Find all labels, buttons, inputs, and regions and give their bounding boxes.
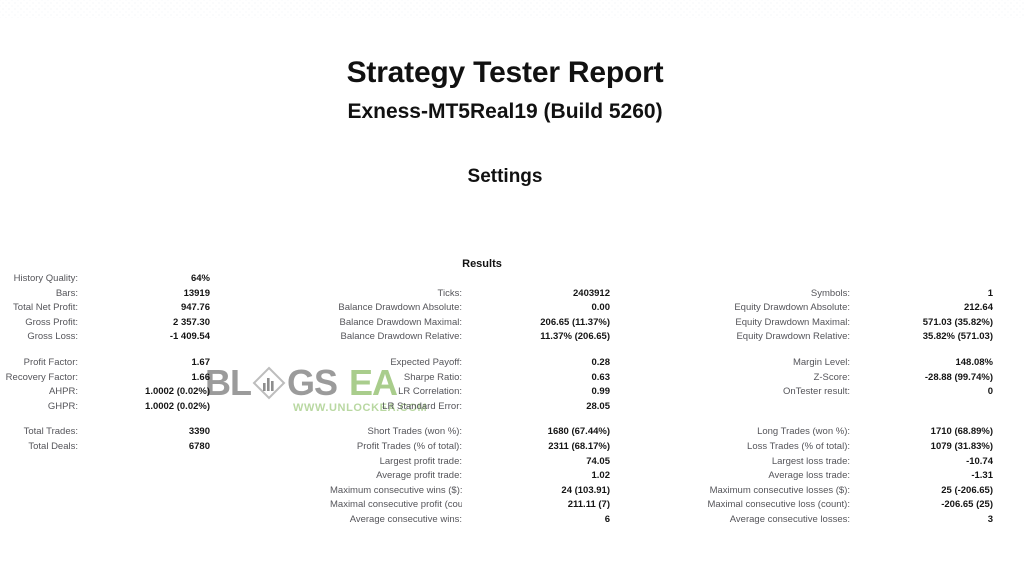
- stat-row: GHPR:1.0002 (0.02%)LR Standard Error:28.…: [0, 400, 1024, 415]
- stat-label: Profit Trades (% of total):: [330, 440, 462, 455]
- stat-value: 6780: [78, 440, 210, 455]
- stat-label: OnTester result:: [660, 385, 850, 400]
- stat-column-3: Largest loss trade:-10.74: [660, 455, 1024, 470]
- stat-label: Profit Factor:: [0, 356, 78, 371]
- stat-column-2: Largest profit trade:74.05: [330, 455, 660, 470]
- stat-row: Average consecutive wins:6Average consec…: [0, 513, 1024, 528]
- stat-label: Sharpe Ratio:: [330, 371, 462, 386]
- stat-value: 947.76: [78, 301, 210, 316]
- stat-column-1: Gross Loss:-1 409.54: [0, 330, 330, 345]
- stat-row: Largest profit trade:74.05Largest loss t…: [0, 455, 1024, 470]
- settings-section-heading: Settings: [0, 166, 1010, 188]
- stat-value: 25 (-206.65): [850, 484, 993, 499]
- stat-value: 0.28: [462, 356, 610, 371]
- stat-row: Average profit trade:1.02Average loss tr…: [0, 469, 1024, 484]
- stat-value: [78, 513, 210, 528]
- stat-group: History Quality:64%Bars:13919Ticks:24039…: [0, 272, 1024, 345]
- stat-label: Maximum consecutive wins ($):: [330, 484, 462, 499]
- stat-value: 0.99: [462, 385, 610, 400]
- stat-label: Loss Trades (% of total):: [660, 440, 850, 455]
- stat-column-3: Average loss trade:-1.31: [660, 469, 1024, 484]
- stat-value: 1.67: [78, 356, 210, 371]
- stat-row: Maximal consecutive profit (count):211.1…: [0, 498, 1024, 513]
- stat-label: [330, 272, 462, 287]
- stat-column-2: Average consecutive wins:6: [330, 513, 660, 528]
- stat-row: AHPR:1.0002 (0.02%)LR Correlation:0.99On…: [0, 385, 1024, 400]
- stat-label: History Quality:: [0, 272, 78, 287]
- stat-label: AHPR:: [0, 385, 78, 400]
- stat-label: Ticks:: [330, 287, 462, 302]
- stat-label: LR Standard Error:: [330, 400, 462, 415]
- stat-label: Equity Drawdown Absolute:: [660, 301, 850, 316]
- stat-column-2: Maximal consecutive profit (count):211.1…: [330, 498, 660, 513]
- stat-value: 1.0002 (0.02%): [78, 385, 210, 400]
- stat-row: Maximum consecutive wins ($):24 (103.91)…: [0, 484, 1024, 499]
- stat-column-3: Equity Drawdown Maximal:571.03 (35.82%): [660, 316, 1024, 331]
- stat-column-3: Z-Score:-28.88 (99.74%): [660, 371, 1024, 386]
- stat-value: 212.64: [850, 301, 993, 316]
- stat-column-3: [660, 272, 1024, 287]
- stat-value: [462, 272, 610, 287]
- stat-row: Recovery Factor:1.66Sharpe Ratio:0.63Z-S…: [0, 371, 1024, 386]
- stat-row: Profit Factor:1.67Expected Payoff:0.28Ma…: [0, 356, 1024, 371]
- stat-row: Total Trades:3390Short Trades (won %):16…: [0, 425, 1024, 440]
- statistics-grid: History Quality:64%Bars:13919Ticks:24039…: [0, 272, 1024, 528]
- stat-value: 0.00: [462, 301, 610, 316]
- stat-label: Margin Level:: [660, 356, 850, 371]
- stat-value: 1079 (31.83%): [850, 440, 993, 455]
- stat-value: 1.02: [462, 469, 610, 484]
- stat-label: Largest profit trade:: [330, 455, 462, 470]
- stat-value: 2 357.30: [78, 316, 210, 331]
- stat-column-1: Recovery Factor:1.66: [0, 371, 330, 386]
- stat-column-3: Maximal consecutive loss (count):-206.65…: [660, 498, 1024, 513]
- stat-group: Total Trades:3390Short Trades (won %):16…: [0, 425, 1024, 527]
- stat-label: LR Correlation:: [330, 385, 462, 400]
- stat-column-2: Balance Drawdown Maximal:206.65 (11.37%): [330, 316, 660, 331]
- stat-value: [78, 469, 210, 484]
- stat-label: Symbols:: [660, 287, 850, 302]
- stat-value: 2311 (68.17%): [462, 440, 610, 455]
- stat-label: Total Net Profit:: [0, 301, 78, 316]
- stat-label: Gross Profit:: [0, 316, 78, 331]
- stat-column-1: Gross Profit:2 357.30: [0, 316, 330, 331]
- stat-column-1: Total Deals:6780: [0, 440, 330, 455]
- stat-label: Recovery Factor:: [0, 371, 78, 386]
- stat-column-1: [0, 455, 330, 470]
- stat-column-1: GHPR:1.0002 (0.02%): [0, 400, 330, 415]
- stat-label: Gross Loss:: [0, 330, 78, 345]
- stat-column-3: Equity Drawdown Absolute:212.64: [660, 301, 1024, 316]
- stat-column-2: [330, 272, 660, 287]
- stat-column-3: Average consecutive losses:3: [660, 513, 1024, 528]
- stat-value: 1.66: [78, 371, 210, 386]
- stat-row: Bars:13919Ticks:2403912Symbols:1: [0, 287, 1024, 302]
- stat-column-2: Maximum consecutive wins ($):24 (103.91): [330, 484, 660, 499]
- stat-value: 28.05: [462, 400, 610, 415]
- stat-column-2: Balance Drawdown Absolute:0.00: [330, 301, 660, 316]
- stat-value: 148.08%: [850, 356, 993, 371]
- stat-value: -1 409.54: [78, 330, 210, 345]
- stat-column-3: Maximum consecutive losses ($):25 (-206.…: [660, 484, 1024, 499]
- stat-column-2: Sharpe Ratio:0.63: [330, 371, 660, 386]
- stat-value: 2403912: [462, 287, 610, 302]
- stat-value: 64%: [78, 272, 210, 287]
- page-top-texture: [0, 0, 1024, 18]
- stat-column-1: Total Trades:3390: [0, 425, 330, 440]
- stat-column-3: [660, 400, 1024, 415]
- stat-column-3: Long Trades (won %):1710 (68.89%): [660, 425, 1024, 440]
- stat-value: [78, 484, 210, 499]
- report-title: Strategy Tester Report: [0, 55, 1010, 91]
- stat-label: [0, 513, 78, 528]
- stat-column-3: Symbols:1: [660, 287, 1024, 302]
- stat-value: 0: [850, 385, 993, 400]
- stat-label: Bars:: [0, 287, 78, 302]
- stat-label: [0, 498, 78, 513]
- stat-column-3: Loss Trades (% of total):1079 (31.83%): [660, 440, 1024, 455]
- stat-value: 74.05: [462, 455, 610, 470]
- report-header: Strategy Tester Report Exness-MT5Real19 …: [0, 55, 1010, 125]
- stat-label: Long Trades (won %):: [660, 425, 850, 440]
- stat-column-3: Equity Drawdown Relative:35.82% (571.03): [660, 330, 1024, 345]
- stat-value: 206.65 (11.37%): [462, 316, 610, 331]
- stat-label: Average consecutive losses:: [660, 513, 850, 528]
- stat-label: GHPR:: [0, 400, 78, 415]
- stat-column-2: LR Standard Error:28.05: [330, 400, 660, 415]
- stat-value: 3: [850, 513, 993, 528]
- stat-value: 211.11 (7): [462, 498, 610, 513]
- stat-value: 0.63: [462, 371, 610, 386]
- stat-value: 6: [462, 513, 610, 528]
- stat-value: -1.31: [850, 469, 993, 484]
- report-subtitle-broker-build: Exness-MT5Real19 (Build 5260): [0, 99, 1010, 125]
- stat-column-2: Ticks:2403912: [330, 287, 660, 302]
- stat-label: Balance Drawdown Absolute:: [330, 301, 462, 316]
- stat-label: Equity Drawdown Maximal:: [660, 316, 850, 331]
- stat-label: [660, 272, 850, 287]
- stat-label: [0, 484, 78, 499]
- stat-label: Largest loss trade:: [660, 455, 850, 470]
- stat-label: Maximum consecutive losses ($):: [660, 484, 850, 499]
- stat-column-1: [0, 484, 330, 499]
- stat-label: [0, 455, 78, 470]
- stat-column-1: Total Net Profit:947.76: [0, 301, 330, 316]
- stat-value: 571.03 (35.82%): [850, 316, 993, 331]
- stat-value: [850, 272, 993, 287]
- stat-row: Gross Loss:-1 409.54Balance Drawdown Rel…: [0, 330, 1024, 345]
- stat-column-1: Profit Factor:1.67: [0, 356, 330, 371]
- stat-label: Expected Payoff:: [330, 356, 462, 371]
- stat-label: Short Trades (won %):: [330, 425, 462, 440]
- stat-column-2: Average profit trade:1.02: [330, 469, 660, 484]
- stat-label: Maximal consecutive profit (count):: [330, 498, 462, 513]
- stat-column-3: OnTester result:0: [660, 385, 1024, 400]
- stat-column-2: LR Correlation:0.99: [330, 385, 660, 400]
- stat-label: Z-Score:: [660, 371, 850, 386]
- stat-column-3: Margin Level:148.08%: [660, 356, 1024, 371]
- stat-value: 3390: [78, 425, 210, 440]
- stat-row: Total Deals:6780Profit Trades (% of tota…: [0, 440, 1024, 455]
- stat-label: [660, 400, 850, 415]
- stat-value: 1680 (67.44%): [462, 425, 610, 440]
- stat-value: [78, 455, 210, 470]
- results-section-heading: Results: [0, 258, 964, 270]
- stat-value: [850, 400, 993, 415]
- stat-column-1: [0, 498, 330, 513]
- stat-group: Profit Factor:1.67Expected Payoff:0.28Ma…: [0, 356, 1024, 414]
- stat-column-1: AHPR:1.0002 (0.02%): [0, 385, 330, 400]
- stat-label: Total Trades:: [0, 425, 78, 440]
- stat-label: [0, 469, 78, 484]
- stat-value: 13919: [78, 287, 210, 302]
- stat-label: Equity Drawdown Relative:: [660, 330, 850, 345]
- stat-value: [78, 498, 210, 513]
- stat-column-1: History Quality:64%: [0, 272, 330, 287]
- stat-column-1: [0, 469, 330, 484]
- stat-label: Balance Drawdown Maximal:: [330, 316, 462, 331]
- stat-value: 24 (103.91): [462, 484, 610, 499]
- stat-label: Total Deals:: [0, 440, 78, 455]
- stat-value: 11.37% (206.65): [462, 330, 610, 345]
- stat-value: -28.88 (99.74%): [850, 371, 993, 386]
- stat-row: Gross Profit:2 357.30Balance Drawdown Ma…: [0, 316, 1024, 331]
- stat-value: 1710 (68.89%): [850, 425, 993, 440]
- stat-column-1: [0, 513, 330, 528]
- stat-column-2: Expected Payoff:0.28: [330, 356, 660, 371]
- stat-value: 35.82% (571.03): [850, 330, 993, 345]
- stat-column-2: Profit Trades (% of total):2311 (68.17%): [330, 440, 660, 455]
- stat-value: 1: [850, 287, 993, 302]
- stat-label: Average profit trade:: [330, 469, 462, 484]
- stat-label: Average loss trade:: [660, 469, 850, 484]
- stat-column-1: Bars:13919: [0, 287, 330, 302]
- stat-value: -10.74: [850, 455, 993, 470]
- stat-label: Balance Drawdown Relative:: [330, 330, 462, 345]
- stat-row: History Quality:64%: [0, 272, 1024, 287]
- stat-column-2: Balance Drawdown Relative:11.37% (206.65…: [330, 330, 660, 345]
- stat-value: -206.65 (25): [850, 498, 993, 513]
- stat-label: Maximal consecutive loss (count):: [660, 498, 850, 513]
- stat-value: 1.0002 (0.02%): [78, 400, 210, 415]
- stat-row: Total Net Profit:947.76Balance Drawdown …: [0, 301, 1024, 316]
- stat-label: Average consecutive wins:: [330, 513, 462, 528]
- stat-column-2: Short Trades (won %):1680 (67.44%): [330, 425, 660, 440]
